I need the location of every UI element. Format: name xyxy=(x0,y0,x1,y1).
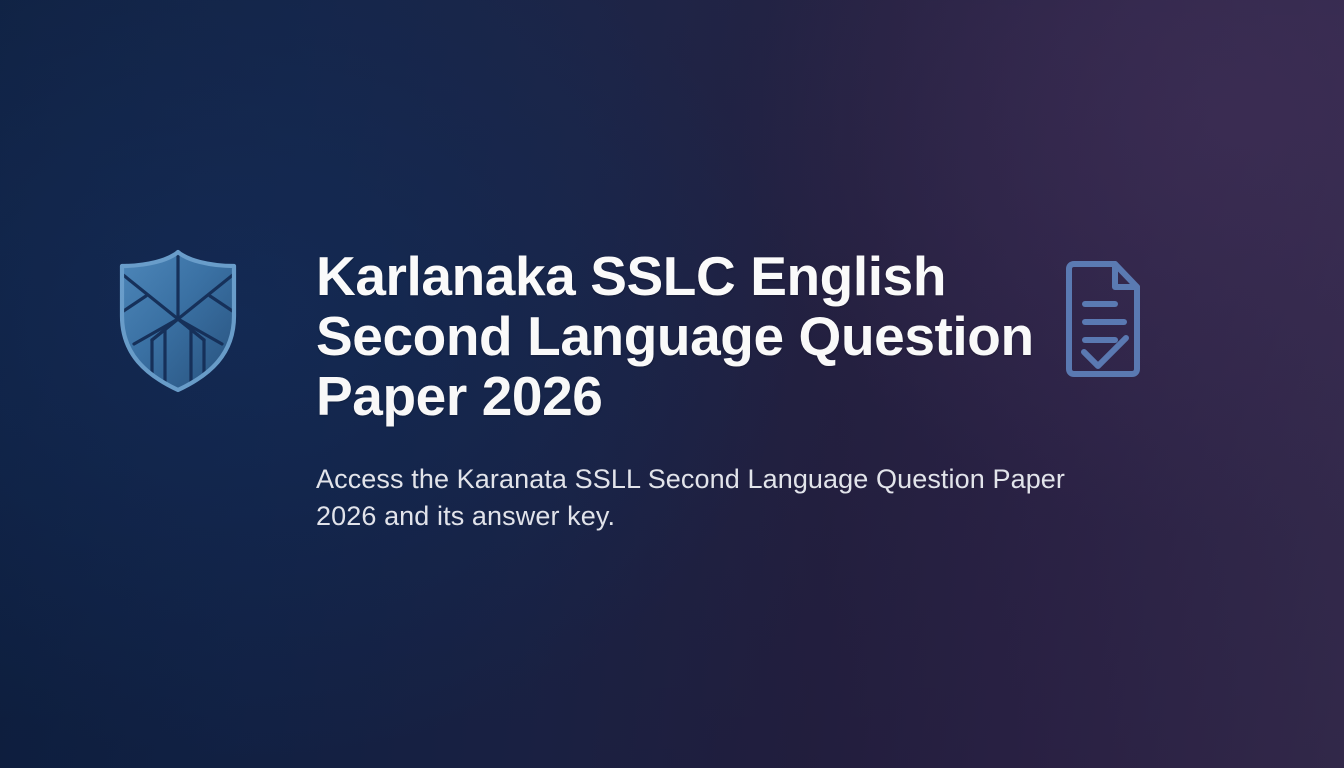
page-title: Karlanaka SSLC English Second Language Q… xyxy=(316,246,1040,426)
page-subtitle: Access the Karanata SSLL Second Language… xyxy=(316,461,1131,535)
hero-banner: Karlanaka SSLC English Second Language Q… xyxy=(0,0,1344,768)
document-check-icon xyxy=(1060,256,1146,382)
headline-row: Karlanaka SSLC English Second Language Q… xyxy=(316,246,1146,426)
shield-icon xyxy=(108,244,248,396)
hero-inner: Karlanaka SSLC English Second Language Q… xyxy=(108,238,1146,535)
text-column: Karlanaka SSLC English Second Language Q… xyxy=(316,238,1146,535)
hero-content: Karlanaka SSLC English Second Language Q… xyxy=(0,0,1344,768)
